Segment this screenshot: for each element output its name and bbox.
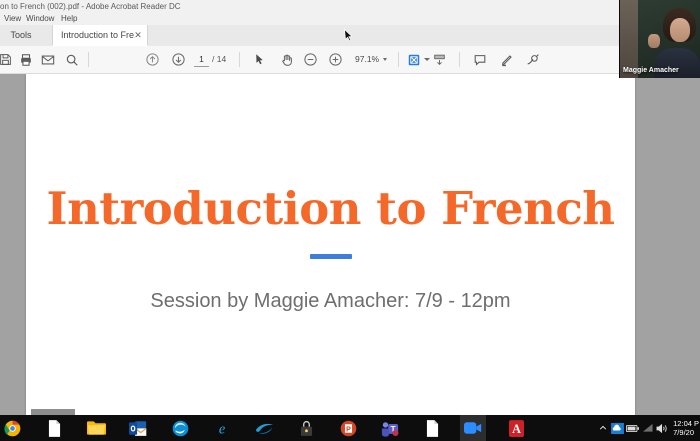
battery-icon[interactable] xyxy=(625,415,640,441)
toolbar-separator-4 xyxy=(459,52,460,67)
menu-bar: View Window Help xyxy=(0,13,700,25)
system-tray: 12:04 P 7/9/20 xyxy=(595,415,700,441)
outlook-icon[interactable] xyxy=(128,418,148,438)
windows-taskbar: e P T xyxy=(0,415,700,441)
volume-icon[interactable] xyxy=(655,415,670,441)
toolbar-separator-3 xyxy=(398,52,399,67)
page-down-icon[interactable] xyxy=(169,50,188,69)
clock-date: 7/9/20 xyxy=(673,428,699,437)
pdf-page-1: Introduction to French Session by Maggie… xyxy=(26,74,635,415)
zoom-app-icon[interactable] xyxy=(460,415,486,441)
chrome-icon[interactable] xyxy=(2,418,22,438)
internet-explorer-icon[interactable]: e xyxy=(212,418,232,438)
acrobat-icon[interactable]: A xyxy=(506,418,526,438)
powerpoint-icon[interactable]: P xyxy=(338,418,358,438)
scrollbar-thumb[interactable] xyxy=(31,409,75,415)
print-icon[interactable] xyxy=(16,50,35,69)
slide-subtitle: Session by Maggie Amacher: 7/9 - 12pm xyxy=(26,290,635,313)
menu-item-help[interactable]: Help xyxy=(57,13,81,25)
tab-strip: Tools Introduction to Fre... ✕ xyxy=(0,25,700,47)
show-hidden-icons-chevron[interactable] xyxy=(595,415,610,441)
sign-icon[interactable] xyxy=(523,50,542,69)
window-title: on to French (002).pdf - Adobe Acrobat R… xyxy=(0,1,181,12)
webcam-person-hand xyxy=(648,34,660,48)
comment-icon[interactable] xyxy=(470,50,489,69)
page-total-label: / 14 xyxy=(212,54,226,64)
search-icon[interactable] xyxy=(62,50,81,69)
document-icon[interactable] xyxy=(44,418,64,438)
save-icon[interactable] xyxy=(0,50,15,69)
scroll-mode-icon[interactable] xyxy=(430,50,449,69)
slide-divider-rule xyxy=(310,254,352,259)
page-number-input[interactable]: 1 xyxy=(194,52,209,67)
tab-document-label: Introduction to Fre... xyxy=(61,25,135,46)
cursor-select-icon[interactable] xyxy=(250,50,269,69)
browser-circle-icon[interactable] xyxy=(170,418,190,438)
toolbar-separator-2 xyxy=(239,52,240,67)
svg-text:e: e xyxy=(219,421,225,437)
hand-pan-icon[interactable] xyxy=(277,50,296,69)
network-icon[interactable] xyxy=(640,415,655,441)
blue-swoosh-icon[interactable] xyxy=(254,418,274,438)
lock-icon[interactable] xyxy=(296,418,316,438)
document-viewport[interactable]: Introduction to French Session by Maggie… xyxy=(0,74,700,415)
webcam-participant-name: Maggie Amacher xyxy=(623,66,679,75)
onedrive-icon[interactable] xyxy=(610,415,625,441)
webcam-video-panel[interactable]: Maggie Amacher xyxy=(619,0,700,78)
file-explorer-icon[interactable] xyxy=(86,418,106,438)
taskbar-clock[interactable]: 12:04 P 7/9/20 xyxy=(670,419,700,437)
highlight-icon[interactable] xyxy=(497,50,516,69)
email-icon[interactable] xyxy=(38,50,57,69)
chevron-down-icon xyxy=(383,58,387,61)
document2-icon[interactable] xyxy=(422,418,442,438)
svg-text:A: A xyxy=(512,422,521,436)
fit-page-icon[interactable] xyxy=(404,50,423,69)
clock-time: 12:04 P xyxy=(673,419,699,428)
tab-tools[interactable]: Tools xyxy=(0,25,42,46)
svg-text:P: P xyxy=(346,425,351,433)
close-icon[interactable]: ✕ xyxy=(133,25,143,46)
title-bar: on to French (002).pdf - Adobe Acrobat R… xyxy=(0,0,700,14)
tab-document[interactable]: Introduction to Fre... ✕ xyxy=(52,25,148,46)
zoom-level-dropdown[interactable]: 97.1% xyxy=(355,52,387,66)
page-up-icon[interactable] xyxy=(143,50,162,69)
toolbar: 1/ 14 97.1% xyxy=(0,46,700,74)
zoom-in-icon[interactable] xyxy=(326,50,345,69)
zoom-out-icon[interactable] xyxy=(301,50,320,69)
acrobat-reader-window: on to French (002).pdf - Adobe Acrobat R… xyxy=(0,0,700,441)
slide-title: Introduction to French xyxy=(26,186,635,231)
zoom-level-label: 97.1% xyxy=(355,54,379,64)
teams-icon[interactable]: T xyxy=(380,418,400,438)
webcam-person-face xyxy=(670,18,690,42)
toolbar-separator xyxy=(88,52,89,67)
page-indicator[interactable]: 1/ 14 xyxy=(194,52,226,67)
menu-item-window[interactable]: Window xyxy=(22,13,58,25)
